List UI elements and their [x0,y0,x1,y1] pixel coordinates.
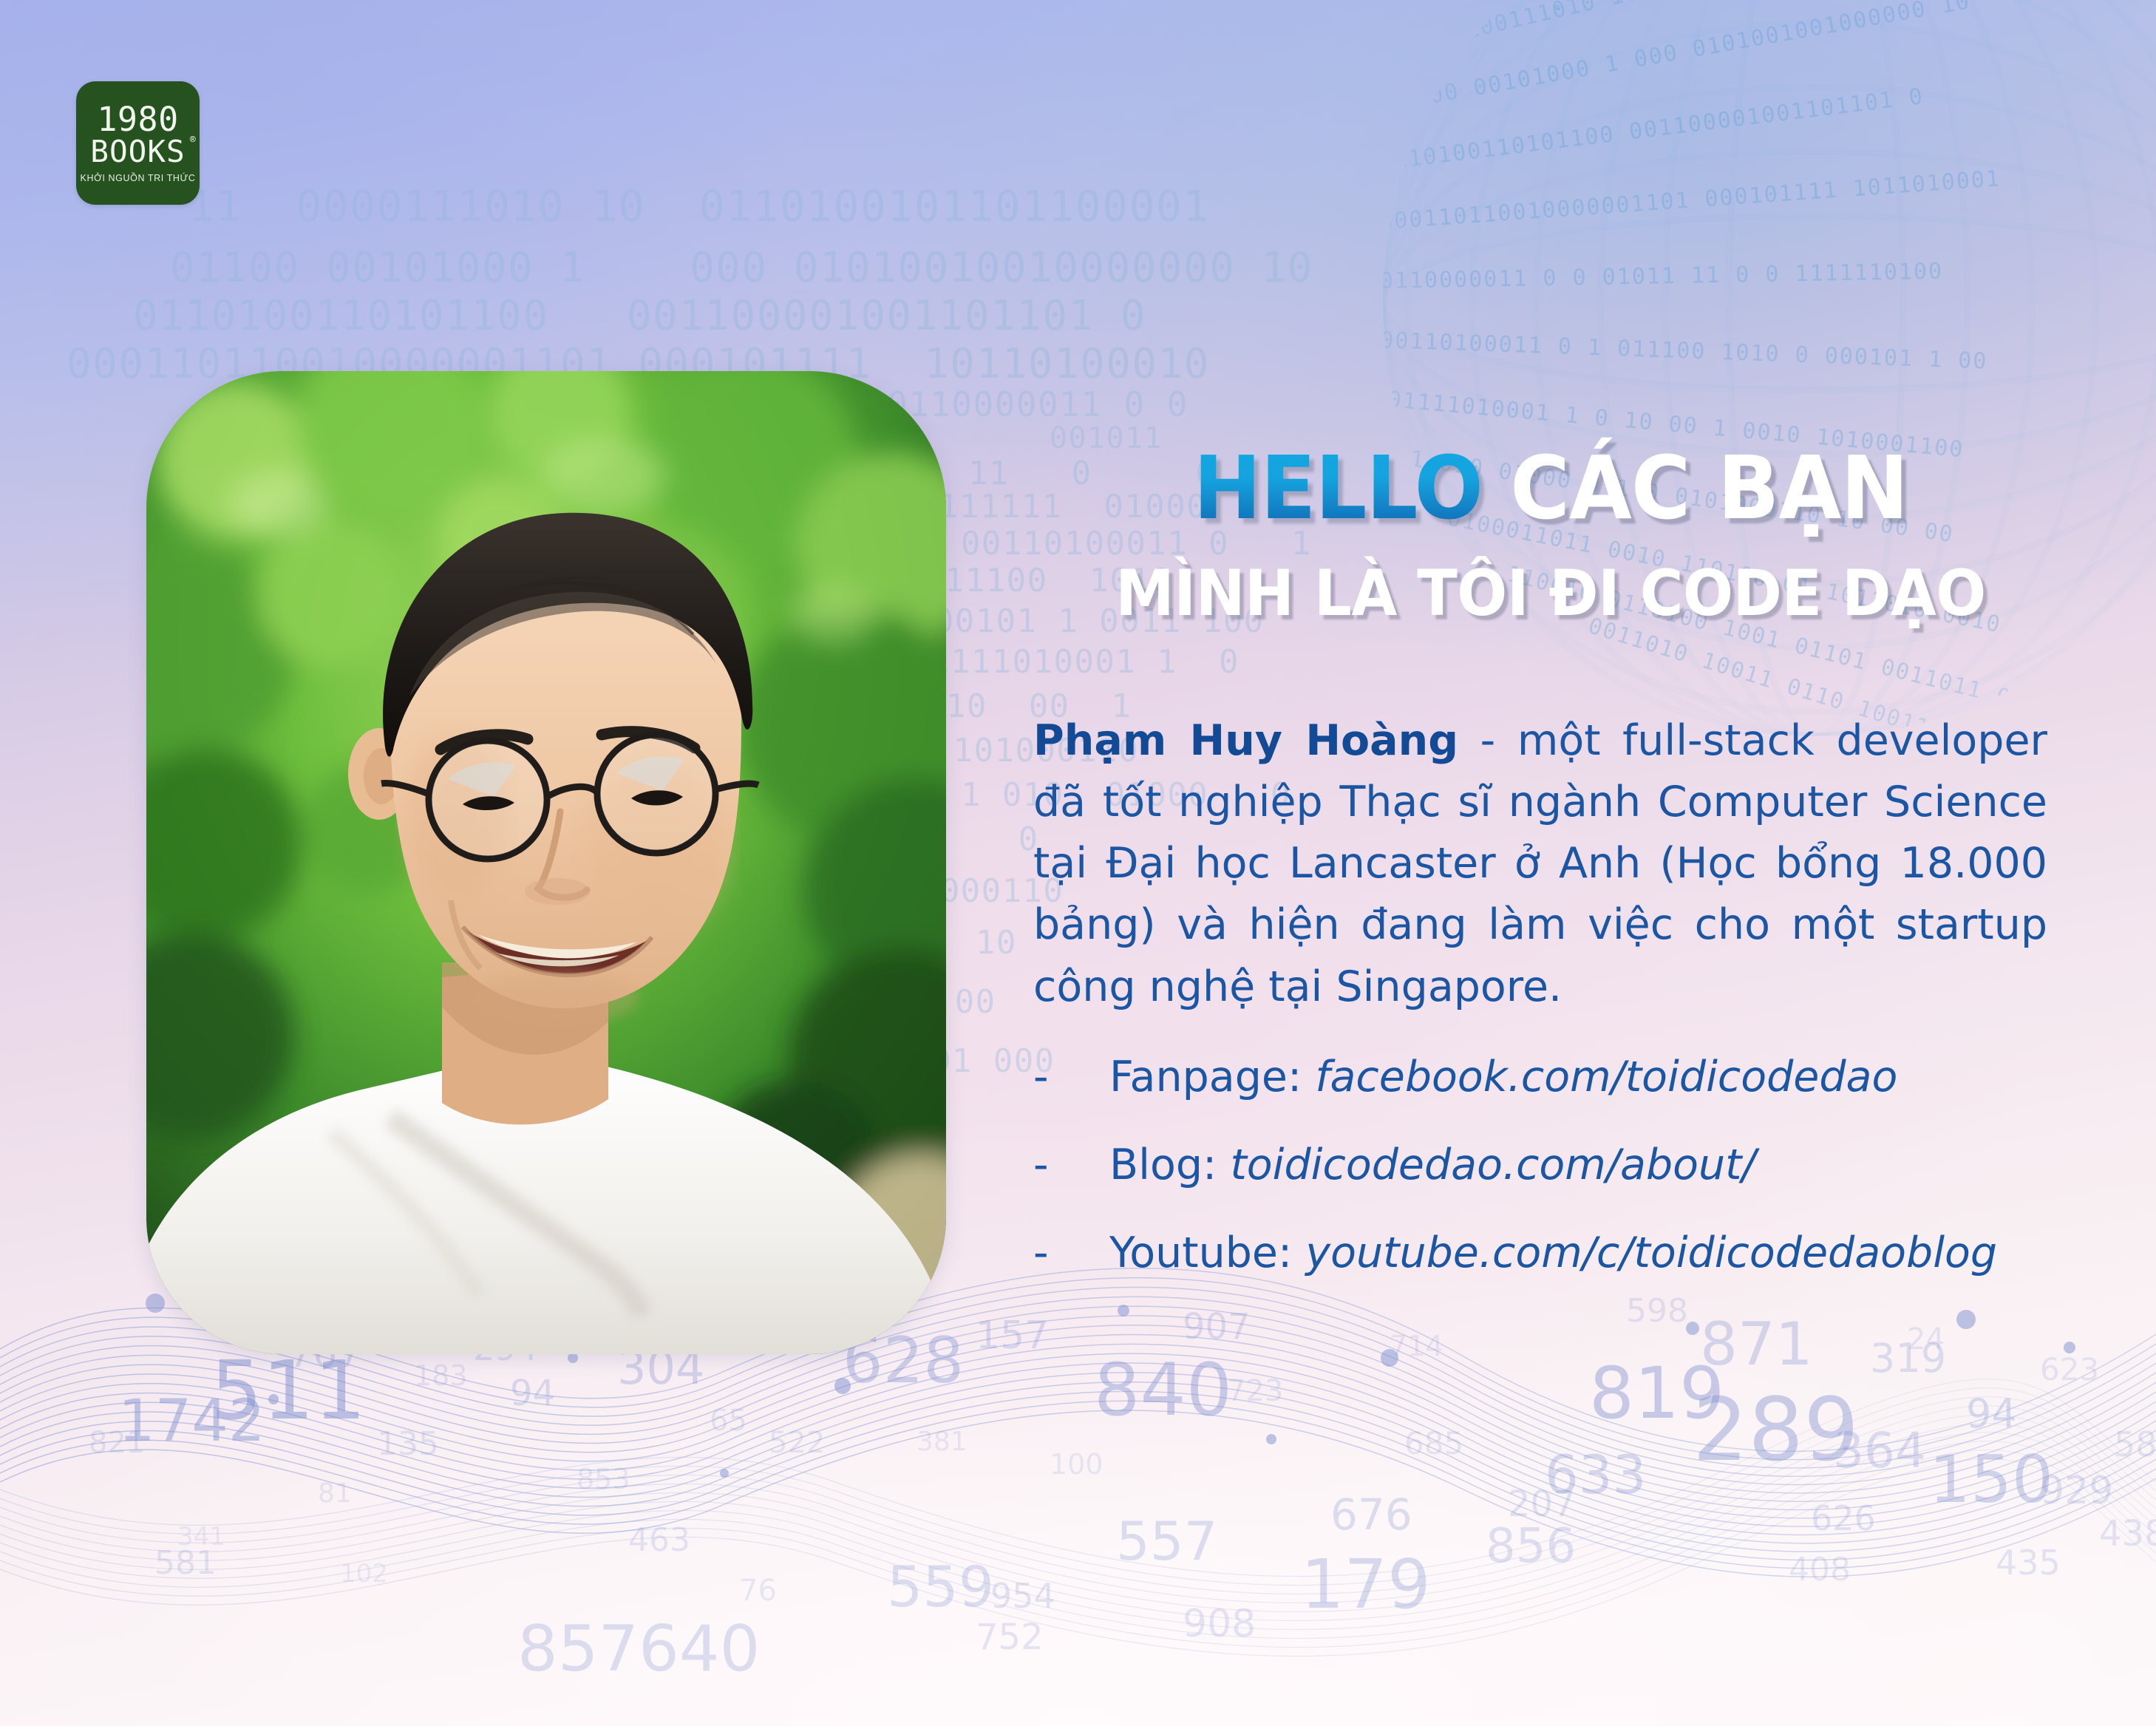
portrait-photo: Portrait [146,371,946,1354]
author-name: Phạm Huy Hoàng [1033,716,1458,765]
list-item[interactable]: - Blog: toidicodedao.com/about/ [1033,1138,2068,1192]
svg-text:0110000011 0 0 01011 11 0 0 11: 0110000011 0 0 01011 11 0 0 1111110100 [1380,259,1943,294]
logo-line-2: BOOKS® [90,137,185,168]
link-url[interactable]: youtube.com/c/toidicodedaoblog [1305,1226,1997,1280]
links-list: - Fanpage: facebook.com/toidicodedao - B… [1033,1050,2068,1280]
logo-line-1: 1980 [97,103,178,135]
logo-wordmark: BOOKS [90,134,185,169]
link-label: Youtube: [1109,1226,1292,1280]
svg-text:000110110010000001101 00010111: 000110110010000001101 000101111 10110100… [1380,166,2002,235]
content-column: HELLO CÁC BẠN MÌNH LÀ TÔI ĐI CODE DẠO Ph… [1033,444,2068,1314]
link-label: Blog: [1109,1138,1217,1192]
list-item[interactable]: - Fanpage: facebook.com/toidicodedao [1033,1050,2068,1104]
bullet-dash-icon: - [1033,1138,1109,1192]
bullet-dash-icon: - [1033,1226,1109,1280]
bullet-dash-icon: - [1033,1050,1109,1104]
brand-logo: 1980 BOOKS® KHỞI NGUỒN TRI THỨC [76,81,200,205]
registered-trademark-icon: ® [190,135,197,145]
link-url[interactable]: toidicodedao.com/about/ [1230,1138,1755,1192]
list-item[interactable]: - Youtube: youtube.com/c/toidicodedaoblo… [1033,1226,2068,1280]
headline-greeting-rest: CÁC BẠN [1510,437,1908,539]
link-label: Fanpage: [1109,1050,1302,1104]
page-subtitle: MÌNH LÀ TÔI ĐI CODE DẠO [1070,560,2032,627]
svg-text:00110100011 0 1 011100 1010 0: 00110100011 0 1 011100 1010 0 000101 1 0… [1380,327,1988,375]
bio-paragraph: Phạm Huy Hoàng - một full-stack develope… [1033,710,2047,1018]
link-url[interactable]: facebook.com/toidicodedao [1315,1050,1897,1104]
page-title: HELLO CÁC BẠN [1070,444,2032,532]
headline-greeting: HELLO [1194,437,1483,539]
logo-tagline: KHỞI NGUỒN TRI THỨC [81,173,196,183]
